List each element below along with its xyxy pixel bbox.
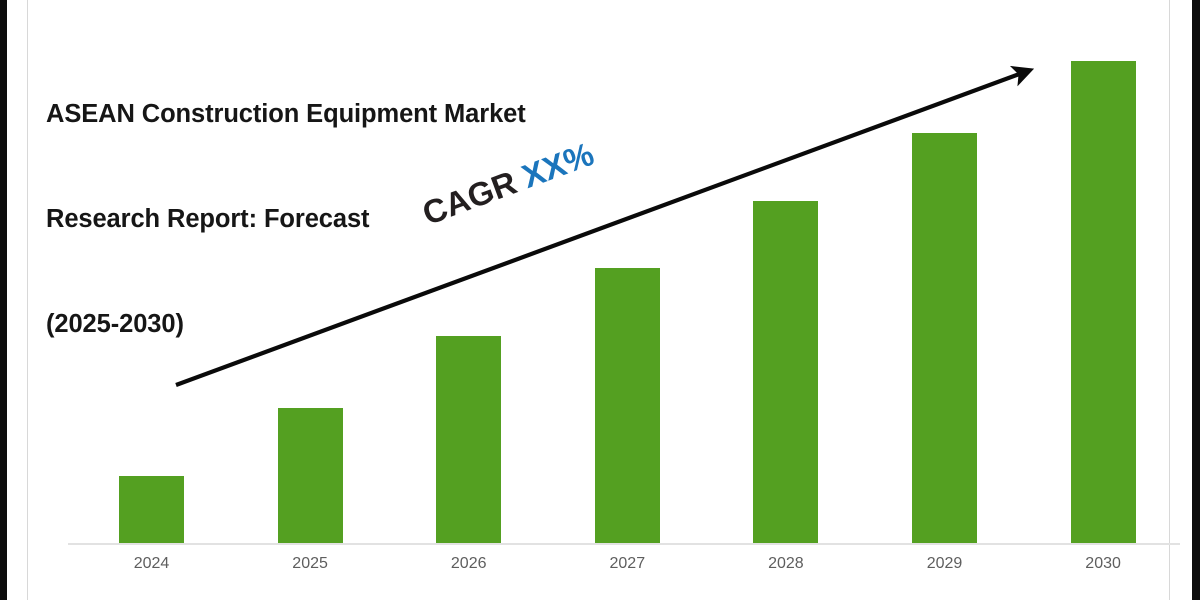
chart-canvas: ASEAN Construction Equipment Market Rese… xyxy=(0,0,1200,600)
bar-2024 xyxy=(119,476,184,543)
x-tick-label-2030: 2030 xyxy=(1053,554,1153,574)
x-tick-label-2026: 2026 xyxy=(419,554,519,574)
plot-area: 2024202520262027202820292030 CAGRXX% xyxy=(0,0,1200,600)
x-axis-line xyxy=(68,543,1180,545)
x-tick-label-2025: 2025 xyxy=(260,554,360,574)
x-tick-label-2028: 2028 xyxy=(736,554,836,574)
bar-2029 xyxy=(912,133,977,543)
bar-2025 xyxy=(278,408,343,543)
x-tick-label-2024: 2024 xyxy=(102,554,202,574)
x-tick-label-2029: 2029 xyxy=(895,554,995,574)
x-tick-label-2027: 2027 xyxy=(577,554,677,574)
bar-2026 xyxy=(436,336,501,543)
bar-2028 xyxy=(753,201,818,543)
bar-2030 xyxy=(1071,61,1136,543)
bar-2027 xyxy=(595,268,660,543)
cagr-label-word: CAGR xyxy=(417,163,521,231)
cagr-annotation: CAGRXX% xyxy=(417,135,599,233)
cagr-label-value: XX% xyxy=(517,135,599,195)
